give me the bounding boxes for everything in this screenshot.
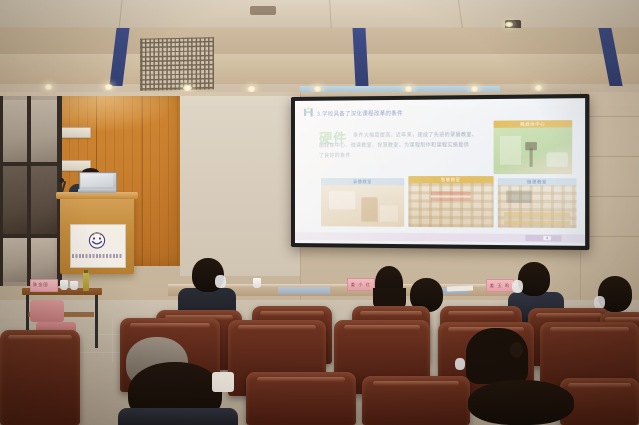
name-placard-front-text: 陈金国 — [33, 282, 49, 288]
projection-screen[interactable]: 3.学校具备了深化课程改革的条件 硬件 条件大幅度提高。近年来，建成了先进的录播… — [291, 94, 589, 250]
slide-card-media-center: 融媒体中心 — [494, 120, 573, 174]
face-mask — [512, 280, 523, 293]
audience-seat[interactable] — [246, 372, 356, 425]
glass-pane[interactable] — [3, 100, 27, 162]
pink-chair[interactable] — [30, 300, 64, 322]
slide-card-photo — [408, 183, 493, 227]
door-mullion — [27, 96, 31, 286]
slide-card-photo — [498, 185, 577, 228]
ceiling-downlight — [104, 84, 113, 90]
documents-on-table — [447, 286, 473, 292]
table-leg — [95, 294, 98, 348]
ceiling-downlight — [44, 84, 53, 90]
name-placard-2: 姜 玉 鸣 — [486, 279, 514, 292]
name-placard-1: 姜 小 红 — [347, 278, 375, 291]
table-blue-cloth — [278, 287, 330, 294]
ceiling — [0, 0, 639, 96]
slide-title: 3.学校具备了深化课程改革的条件 — [317, 109, 403, 118]
ceiling-panel-row-1 — [0, 0, 639, 31]
glass-pane[interactable] — [31, 100, 57, 162]
glass-pane[interactable] — [31, 238, 57, 282]
door-mullion — [0, 96, 3, 286]
face-mask — [455, 358, 465, 370]
glass-pane[interactable] — [3, 166, 27, 234]
name-placard-2-text: 姜 玉 鸣 — [487, 280, 513, 291]
slide-card-photo — [494, 127, 573, 174]
bottle-cap — [84, 270, 88, 273]
glass-door-wall[interactable] — [0, 96, 62, 286]
ceiling-beam-lower — [0, 54, 639, 84]
ceiling-downlight — [505, 22, 513, 27]
ceiling-downlight — [534, 85, 543, 91]
attendee-head — [468, 380, 574, 425]
conference-hall-photo: 3.学校具备了深化课程改革的条件 硬件 条件大幅度提高。近年来，建成了先进的录播… — [0, 0, 639, 425]
slide-logo-icon — [303, 107, 315, 118]
door-rail — [0, 234, 62, 238]
glass-pane[interactable] — [3, 238, 27, 282]
slide-card-photo — [321, 185, 404, 227]
audience-seat[interactable] — [0, 330, 80, 425]
slide-page-number: 4 — [543, 236, 550, 240]
slide-body-line-1: 条件大幅度提高。近年来，建成了先进的录播教室、 — [353, 131, 477, 139]
slide-body-line-3: 了良好的条件 — [319, 152, 351, 159]
podium-sign-text — [72, 254, 122, 258]
ceiling-vent-icon — [250, 6, 276, 15]
audience-seat[interactable] — [362, 376, 470, 425]
laptop-base — [78, 189, 116, 193]
beige-wall-panel — [180, 96, 300, 276]
paper-in-hand — [212, 372, 234, 392]
glass-pane[interactable] — [31, 166, 57, 234]
slide-body-line-2: 融媒体中心、微课教室、智慧教室，为课程制作和课程实施提供 — [319, 141, 469, 149]
name-placard-1-text: 姜 小 红 — [348, 279, 374, 290]
laptop-screen — [81, 174, 113, 187]
hair-tie — [510, 342, 523, 358]
acoustic-perforated-panel — [140, 37, 214, 90]
water-bottle — [83, 272, 89, 291]
face-mask — [215, 275, 226, 288]
school-emblem-icon — [87, 232, 107, 249]
podium-top-surface — [56, 192, 138, 199]
ceiling-beam-upper — [0, 28, 639, 54]
paper-cup — [60, 280, 68, 290]
ceiling-downlight — [183, 85, 192, 91]
slide-card-smart-classroom: 智慧教室 — [408, 176, 493, 227]
attendee-torso — [118, 408, 238, 425]
slide-surface: 3.学校具备了深化课程改革的条件 硬件 条件大幅度提高。近年来，建成了先进的录播… — [295, 98, 585, 246]
attendee-head — [518, 262, 550, 296]
door-rail — [0, 162, 62, 166]
paper-cup — [70, 281, 78, 290]
paper-cup — [253, 278, 261, 288]
slide-card-micro-lecture: 微课教室 — [498, 178, 577, 228]
slide-card-recording-classroom: 录播教室 — [321, 178, 404, 227]
